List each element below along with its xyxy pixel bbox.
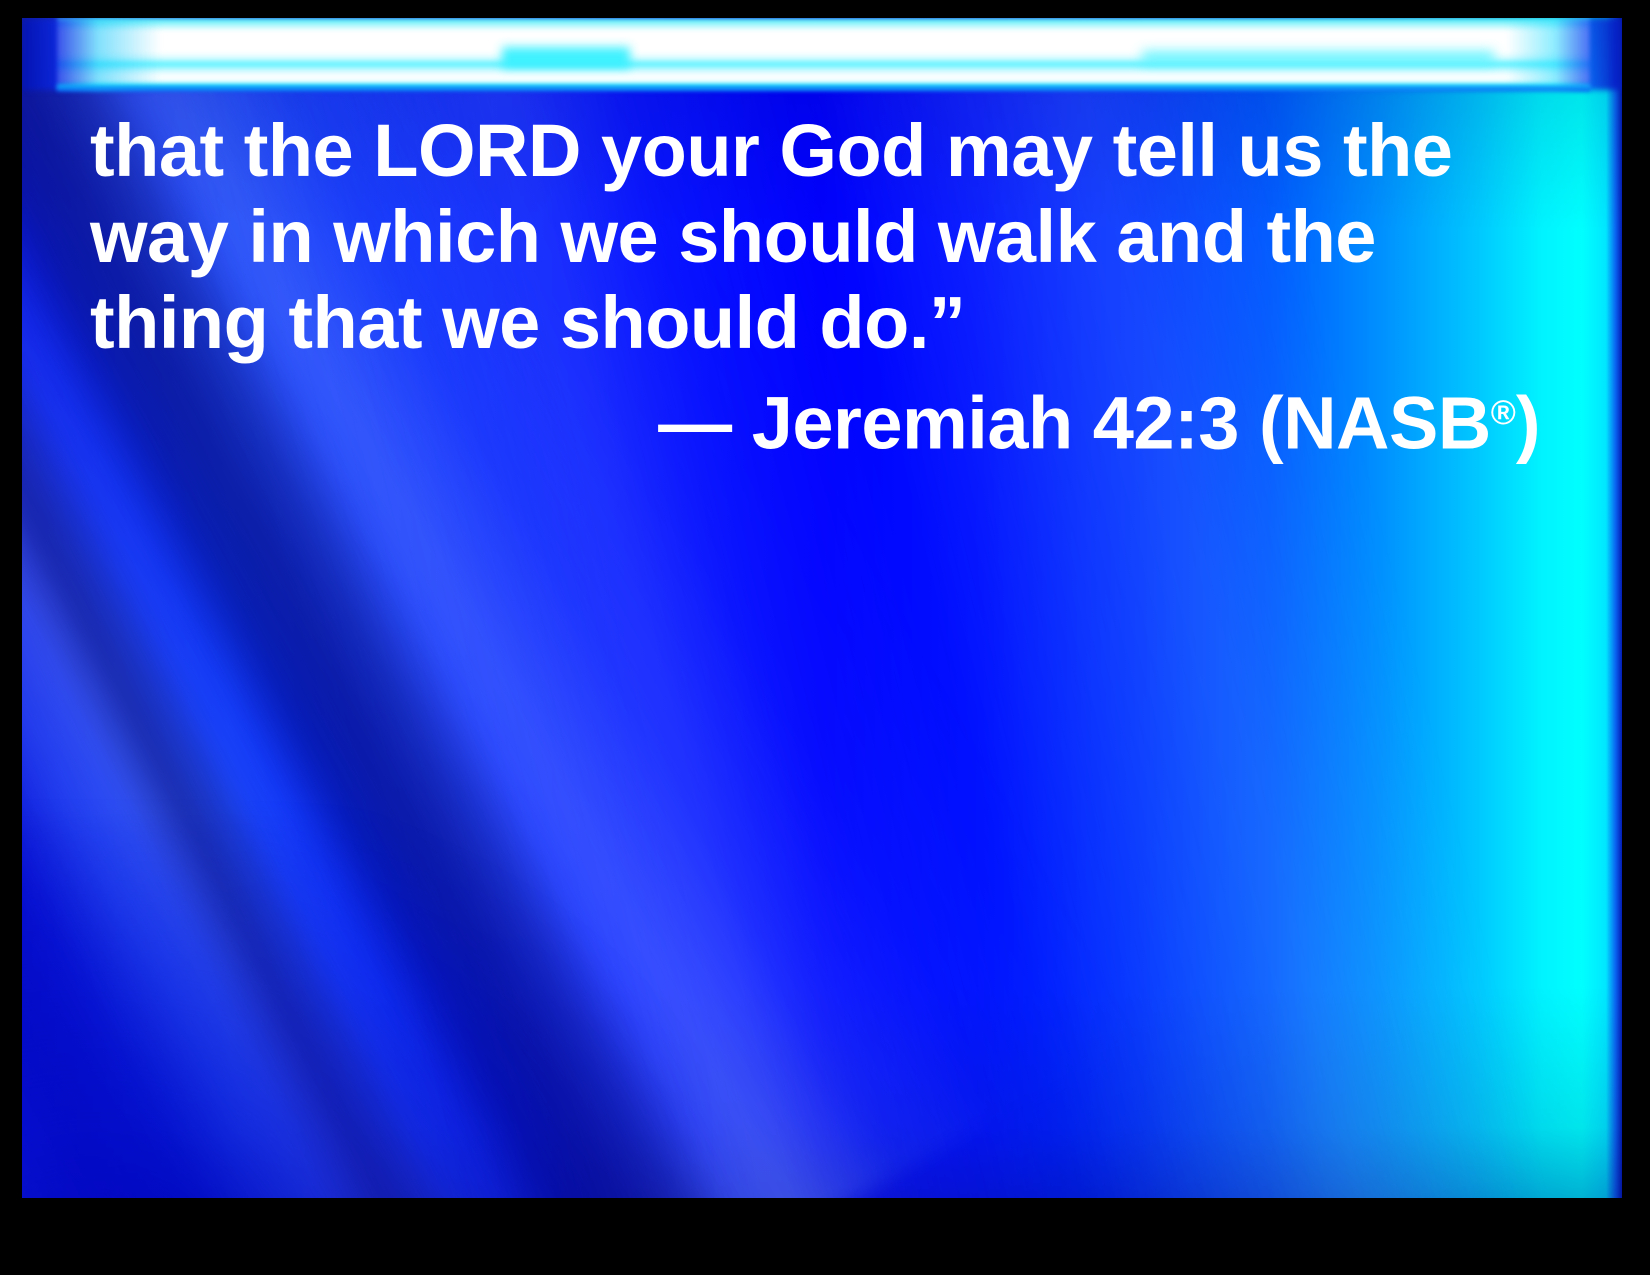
verse-line-2: way in which we should walk and the	[90, 194, 1540, 280]
top-highlight-band	[22, 18, 1622, 90]
verse-line-3: thing that we should do.”	[90, 280, 1540, 366]
verse-slide: that the LORD your God may tell us the w…	[0, 0, 1650, 1275]
registered-trademark-icon: ®	[1491, 394, 1516, 432]
border-top	[0, 0, 1650, 18]
verse-line-1: that the LORD your God may tell us the	[90, 108, 1540, 194]
citation-prefix: — Jeremiah 42:3 (NASB	[658, 382, 1491, 465]
verse-text-block: that the LORD your God may tell us the w…	[90, 108, 1540, 366]
background-corner-shadow	[22, 820, 694, 1198]
top-band-streak-left	[502, 47, 630, 69]
border-left	[0, 0, 22, 1275]
top-band-left-taper	[22, 18, 246, 90]
citation-suffix: )	[1516, 382, 1540, 465]
border-right	[1624, 0, 1650, 1275]
verse-citation: — Jeremiah 42:3 (NASB®)	[90, 370, 1540, 467]
top-band-underline	[57, 85, 1590, 92]
top-band-right-taper	[1462, 18, 1622, 90]
top-band-streak-right	[1142, 51, 1494, 64]
border-bottom	[0, 1198, 1650, 1275]
